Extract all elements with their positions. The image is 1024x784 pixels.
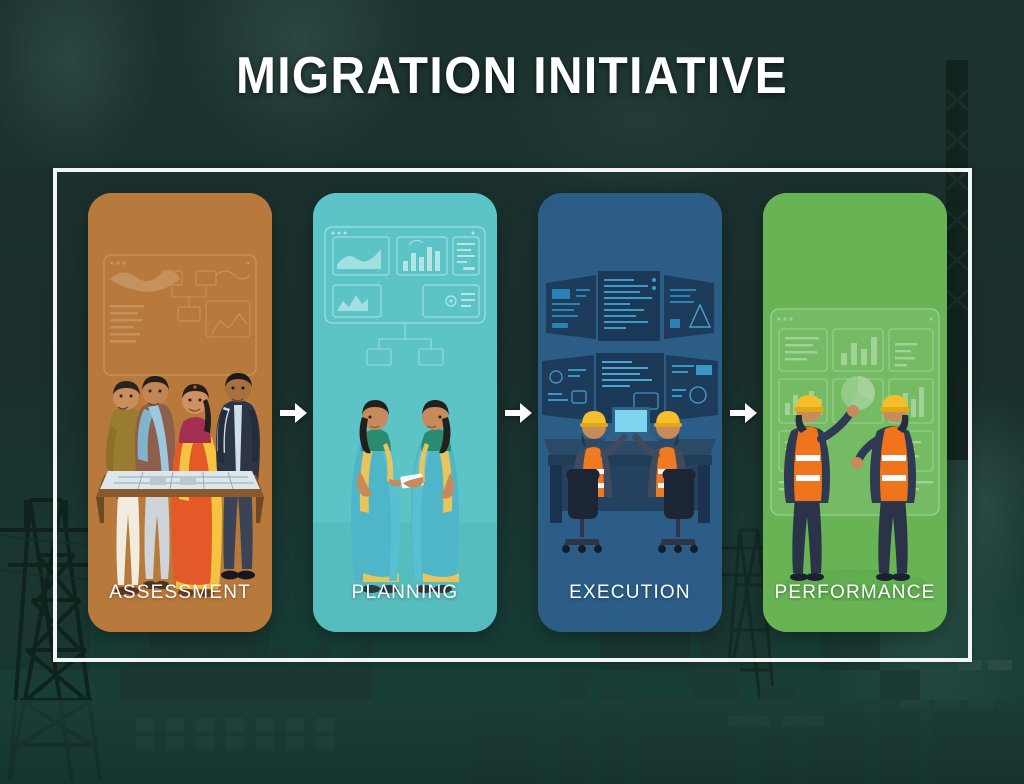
stage-label-performance: PERFORMANCE [763, 582, 947, 604]
stage-panel-execution[interactable]: EXECUTION [538, 193, 722, 632]
arrow-execution-to-performance [722, 193, 763, 632]
stage-label-planning: PLANNING [313, 582, 497, 604]
page-title-wrap: MIGRATION INITIATIVE [0, 46, 1024, 106]
stage-panel-planning[interactable]: PLANNING [313, 193, 497, 632]
monitor-wall-top [546, 271, 714, 341]
illustration-assessment [88, 193, 272, 632]
arrow-assessment-to-planning [272, 193, 313, 632]
stage-label-execution: EXECUTION [538, 582, 722, 604]
stage-label-assessment: ASSESSMENT [88, 582, 272, 604]
illustration-execution [538, 193, 722, 632]
stage-panel-performance[interactable]: PERFORMANCE [763, 193, 947, 632]
center-laptop [604, 407, 658, 441]
arrow-planning-to-execution [497, 193, 538, 632]
page-title: MIGRATION INITIATIVE [236, 46, 788, 106]
illustration-planning [313, 193, 497, 632]
radio-tower [946, 60, 968, 460]
stage-panel-row: ASSESSMENT [88, 193, 948, 632]
illustration-performance [763, 193, 947, 632]
stage-panel-assessment[interactable]: ASSESSMENT [88, 193, 272, 632]
